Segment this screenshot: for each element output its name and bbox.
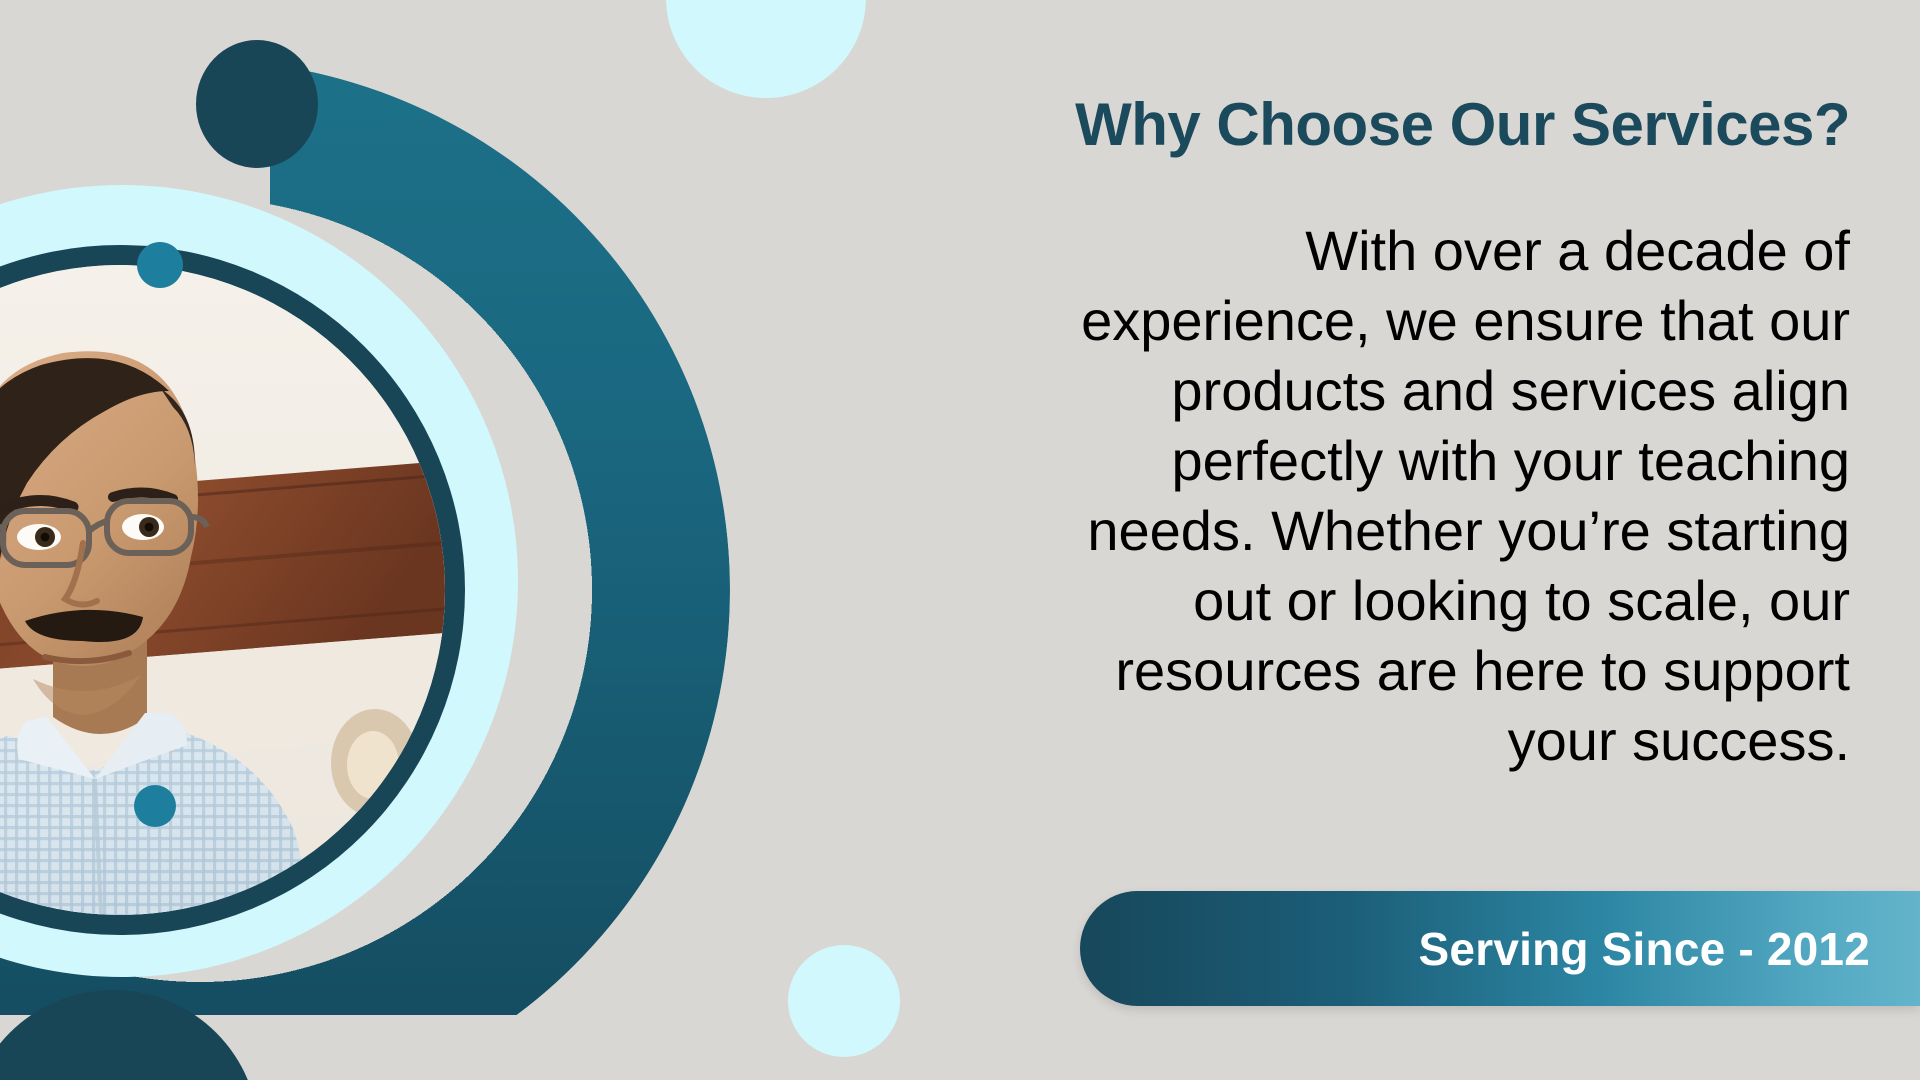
status-badge-label: Serving Since - 2012 [1080, 891, 1870, 1006]
promo-banner: Why Choose Our Services? With over a dec… [0, 0, 1920, 1080]
body-paragraph: With over a decade of experience, we ens… [760, 216, 1850, 776]
navy-circle-decoration [196, 40, 318, 168]
page-title: Why Choose Our Services? [760, 92, 1850, 158]
teal-accent-dot-top [137, 242, 183, 288]
teal-accent-dot-bottom [134, 785, 176, 827]
status-badge: Serving Since - 2012 [1080, 891, 1920, 1006]
